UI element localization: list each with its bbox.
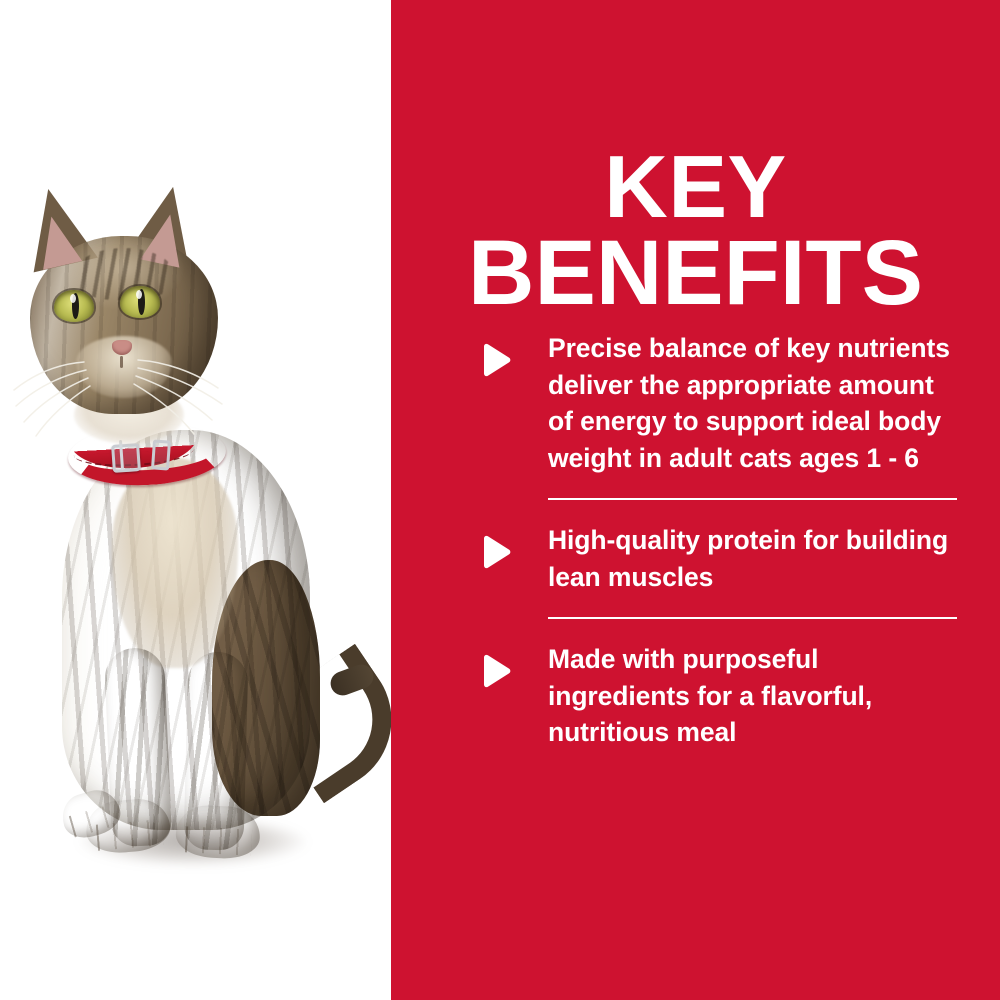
benefit-divider (548, 617, 957, 619)
cat-collar-buckle (111, 443, 141, 473)
cat-chest-fur (112, 458, 238, 668)
cat-eye-glint-right (136, 290, 142, 299)
benefits-list: Precise balance of key nutrients deliver… (391, 330, 1000, 751)
cat-mouth (120, 356, 123, 368)
benefit-item: High-quality protein for building lean m… (391, 522, 1000, 595)
cat-eye-glint-left (70, 294, 76, 303)
cat-photo (0, 0, 391, 1000)
headline-line-2: BENEFITS (391, 229, 1000, 317)
benefit-item: Made with purposeful ingredients for a f… (391, 641, 1000, 751)
benefit-item: Precise balance of key nutrients deliver… (391, 330, 1000, 476)
benefits-panel: KEY BENEFITS Precise balance of key nutr… (391, 0, 1000, 1000)
headline-line-1: KEY (391, 145, 1000, 229)
benefit-divider (548, 498, 957, 500)
cat-eye-right (120, 286, 160, 318)
benefit-text: Made with purposeful ingredients for a f… (478, 641, 955, 751)
cat-collar-keeper-loop (151, 439, 171, 470)
benefit-separator-wrap (391, 617, 1000, 619)
benefit-text: Precise balance of key nutrients deliver… (478, 330, 955, 476)
page-title: KEY BENEFITS (391, 145, 1000, 318)
benefit-text: High-quality protein for building lean m… (478, 522, 955, 595)
cat-eye-left (54, 290, 94, 322)
key-benefits-panel: KEY BENEFITS Precise balance of key nutr… (0, 0, 1000, 1000)
benefit-separator-wrap (391, 498, 1000, 500)
product-photo-panel (0, 0, 391, 1000)
